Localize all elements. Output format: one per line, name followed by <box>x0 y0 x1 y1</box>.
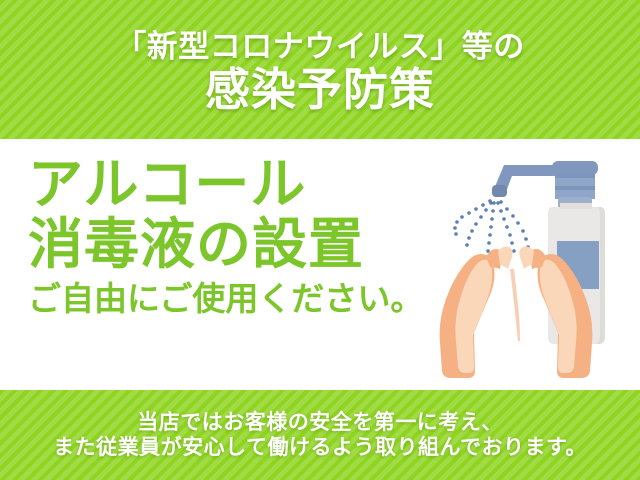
covid-prevention-poster: 「新型コロナウイルス」等の 感染予防策 アルコール 消毒液の設置 ご自由にご使用… <box>0 0 640 480</box>
main-message-block: アルコール 消毒液の設置 ご自由にご使用ください。 <box>28 155 428 317</box>
header-banner: 「新型コロナウイルス」等の 感染予防策 <box>0 0 640 139</box>
footer-line-2: また従業員が安心して働けるよう取り組んでおります。 <box>53 437 587 458</box>
footer-line-1: 当店ではお客様の安全を第一に考え、 <box>137 412 503 433</box>
sanitizer-illustration <box>424 145 634 385</box>
header-line-2: 感染予防策 <box>205 67 435 113</box>
main-line-2: 消毒液の設置 <box>28 215 428 273</box>
footer-banner: 当店ではお客様の安全を第一に考え、 また従業員が安心して働けるよう取り組んでおり… <box>0 390 640 480</box>
spray-dots-icon <box>453 199 531 257</box>
main-line-3: ご自由にご使用ください。 <box>28 282 428 317</box>
header-line-1: 「新型コロナウイルス」等の <box>115 32 525 64</box>
main-panel: アルコール 消毒液の設置 ご自由にご使用ください。 <box>0 139 640 390</box>
pump-head-icon <box>492 161 598 209</box>
main-line-1: アルコール <box>28 155 428 213</box>
